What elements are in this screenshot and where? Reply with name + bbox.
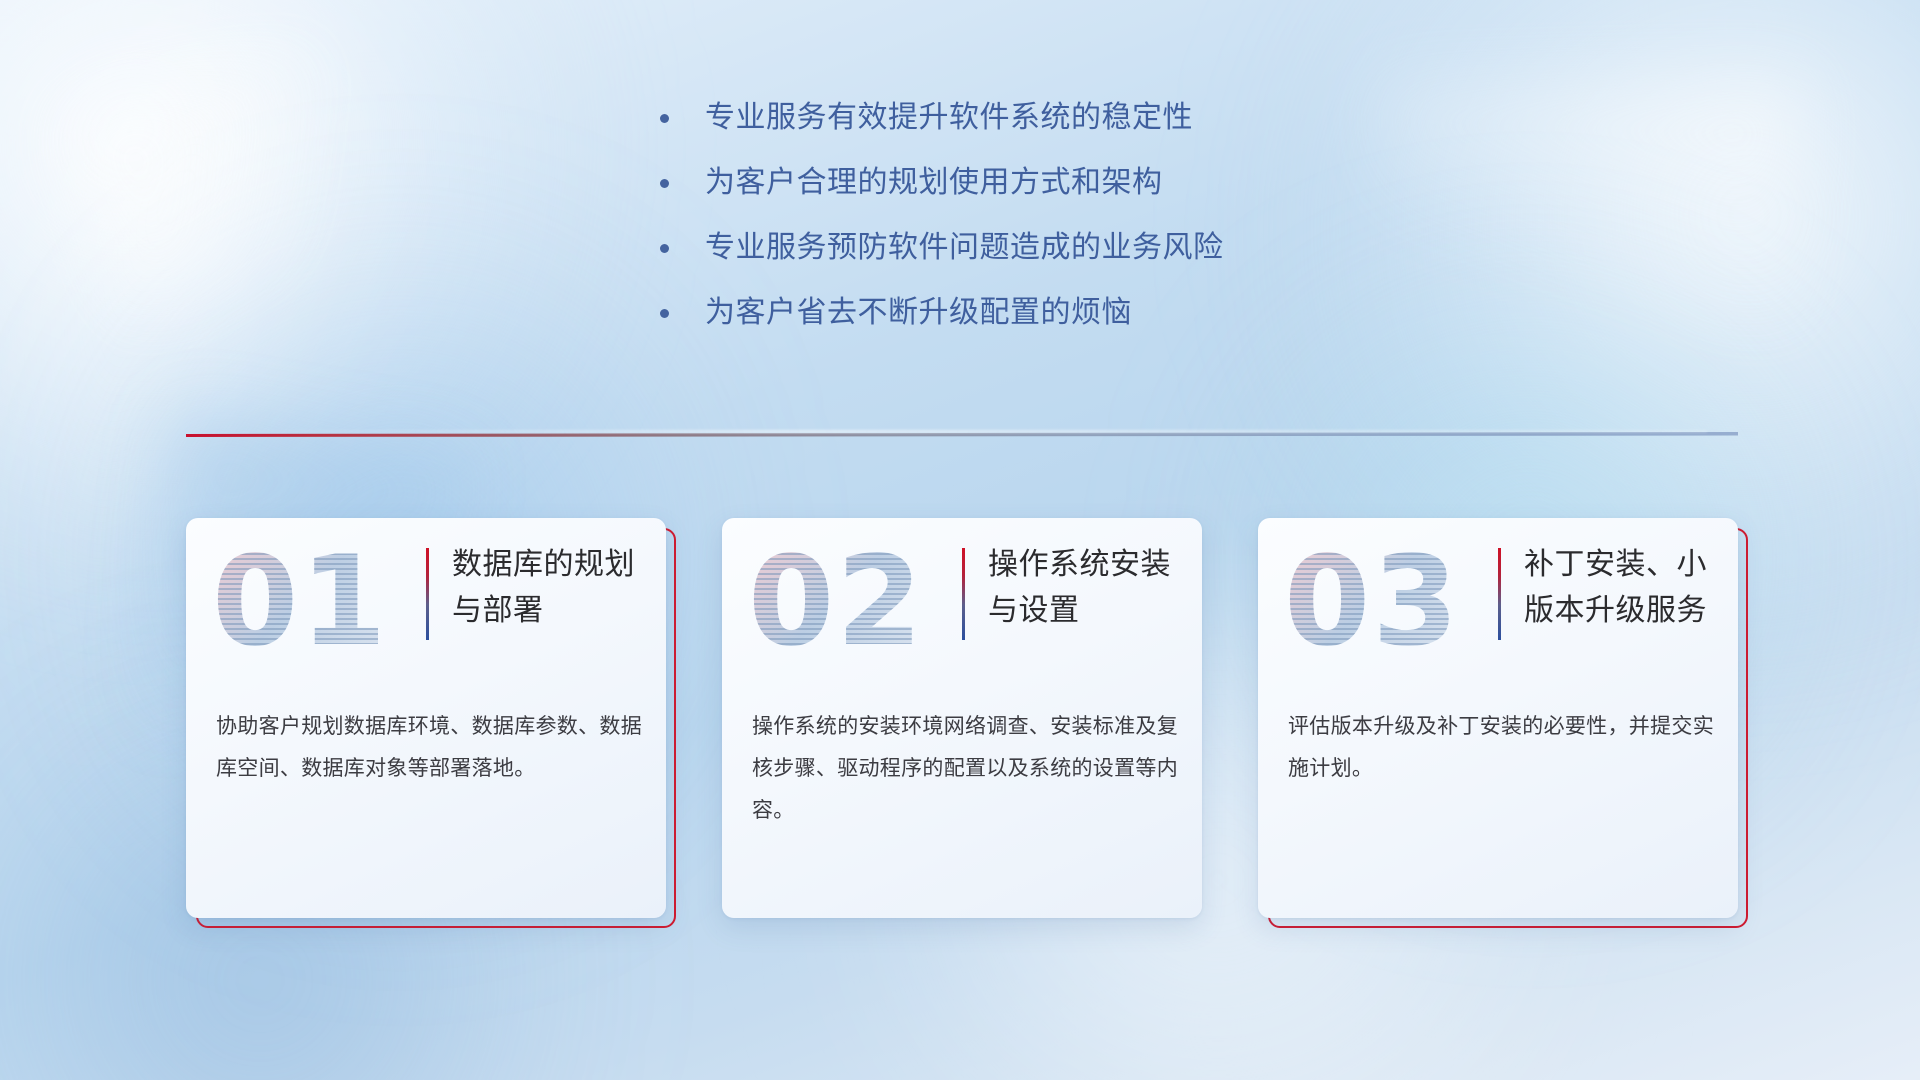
card-surface[interactable]: 03 补丁安装、小版本升级服务 评估版本升级及补丁安装的必要性，并提交实施计划。 (1258, 518, 1738, 918)
card-title: 操作系统安装与设置 (988, 542, 1184, 634)
slide-canvas: 专业服务有效提升软件系统的稳定性 为客户合理的规划使用方式和架构 专业服务预防软… (0, 0, 1920, 1080)
list-item: 为客户合理的规划使用方式和架构 (660, 159, 1460, 207)
bullet-label: 专业服务预防软件问题造成的业务风险 (705, 224, 1224, 272)
card-rule-divider (1498, 548, 1501, 640)
bullet-dot-icon (660, 179, 669, 188)
bullet-dot-icon (660, 244, 669, 253)
bullet-label: 为客户合理的规划使用方式和架构 (705, 159, 1163, 207)
card-body-text: 评估版本升级及补丁安装的必要性，并提交实施计划。 (1288, 706, 1716, 790)
benefit-bullet-list: 专业服务有效提升软件系统的稳定性 为客户合理的规划使用方式和架构 专业服务预防软… (660, 94, 1460, 354)
card-number-watermark: 02 (748, 538, 953, 666)
card-rule-divider (962, 548, 965, 640)
card-rule-divider (426, 548, 429, 640)
bullet-label: 专业服务有效提升软件系统的稳定性 (705, 94, 1193, 142)
card-number-watermark: 01 (212, 538, 417, 666)
card-number-watermark: 03 (1284, 538, 1489, 666)
section-divider (186, 424, 1738, 446)
service-card-03[interactable]: 03 补丁安装、小版本升级服务 评估版本升级及补丁安装的必要性，并提交实施计划。 (1258, 518, 1738, 918)
card-title: 数据库的规划与部署 (452, 542, 648, 634)
card-header: 02 操作系统安装与设置 (722, 518, 1202, 684)
service-card-02[interactable]: 02 操作系统安装与设置 操作系统的安装环境网络调查、安装标准及复核步骤、驱动程… (722, 518, 1202, 918)
card-title: 补丁安装、小版本升级服务 (1524, 542, 1720, 634)
bullet-dot-icon (660, 114, 669, 123)
divider-highlight (217, 430, 1707, 433)
card-surface[interactable]: 01 数据库的规划与部署 协助客户规划数据库环境、数据库参数、数据库空间、数据库… (186, 518, 666, 918)
card-header: 03 补丁安装、小版本升级服务 (1258, 518, 1738, 684)
list-item: 为客户省去不断升级配置的烦恼 (660, 289, 1460, 337)
list-item: 专业服务有效提升软件系统的稳定性 (660, 94, 1460, 142)
list-item: 专业服务预防软件问题造成的业务风险 (660, 224, 1460, 272)
card-body-text: 操作系统的安装环境网络调查、安装标准及复核步骤、驱动程序的配置以及系统的设置等内… (752, 706, 1180, 832)
bullet-dot-icon (660, 309, 669, 318)
background-streak-one (66, 14, 445, 316)
card-surface[interactable]: 02 操作系统安装与设置 操作系统的安装环境网络调查、安装标准及复核步骤、驱动程… (722, 518, 1202, 918)
service-card-group: 01 数据库的规划与部署 协助客户规划数据库环境、数据库参数、数据库空间、数据库… (186, 518, 1738, 918)
card-header: 01 数据库的规划与部署 (186, 518, 666, 684)
bullet-label: 为客户省去不断升级配置的烦恼 (705, 289, 1132, 337)
service-card-01[interactable]: 01 数据库的规划与部署 协助客户规划数据库环境、数据库参数、数据库空间、数据库… (186, 518, 666, 918)
card-body-text: 协助客户规划数据库环境、数据库参数、数据库空间、数据库对象等部署落地。 (216, 706, 644, 790)
